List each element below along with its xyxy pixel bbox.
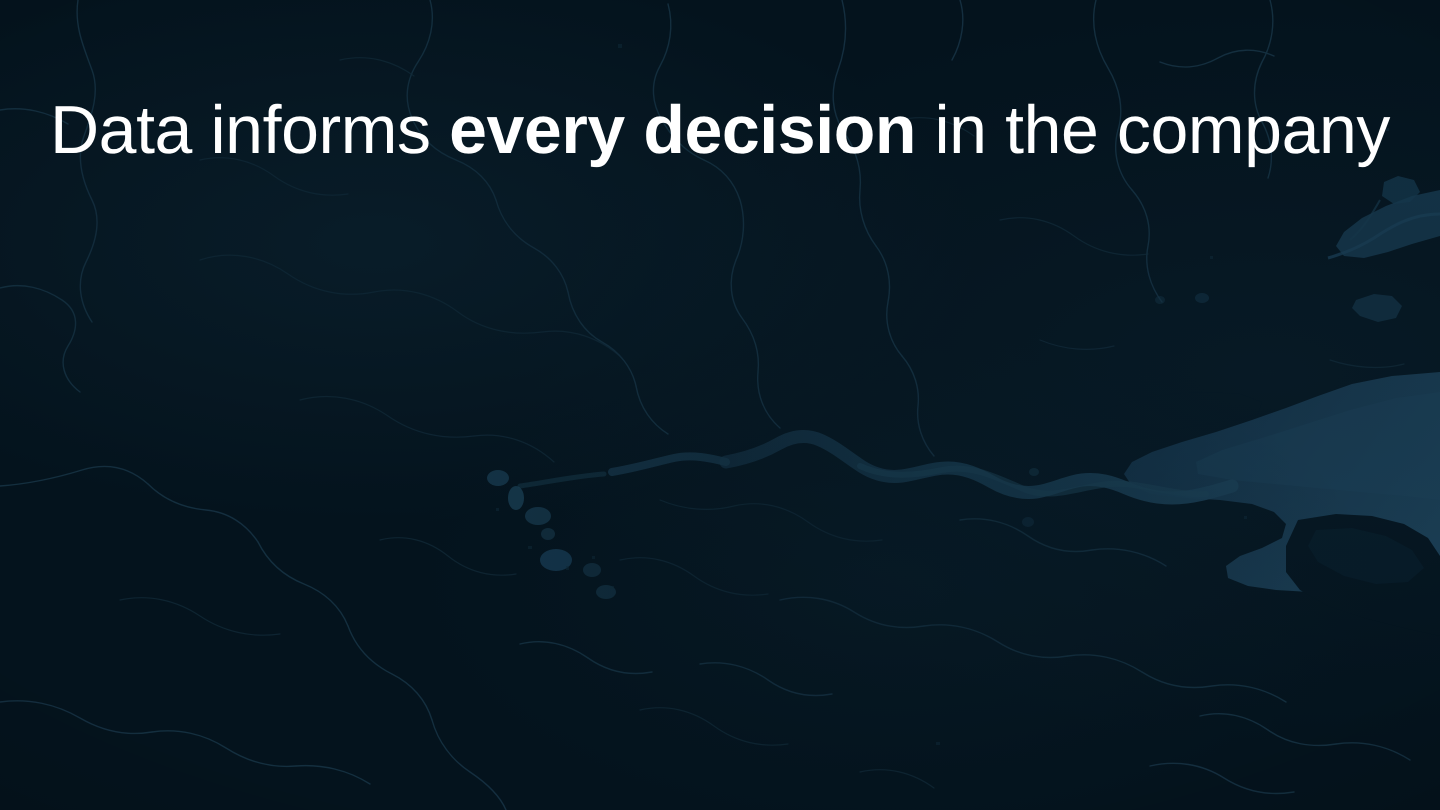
slide-headline: Data informs every decision in the compa… [0,94,1440,167]
headline-lead-text: Data informs [50,92,449,168]
headline-emphasis-text: every decision [449,92,916,168]
headline-trail-text: in the company [916,92,1390,168]
slide-root: Data informs every decision in the compa… [0,0,1440,810]
